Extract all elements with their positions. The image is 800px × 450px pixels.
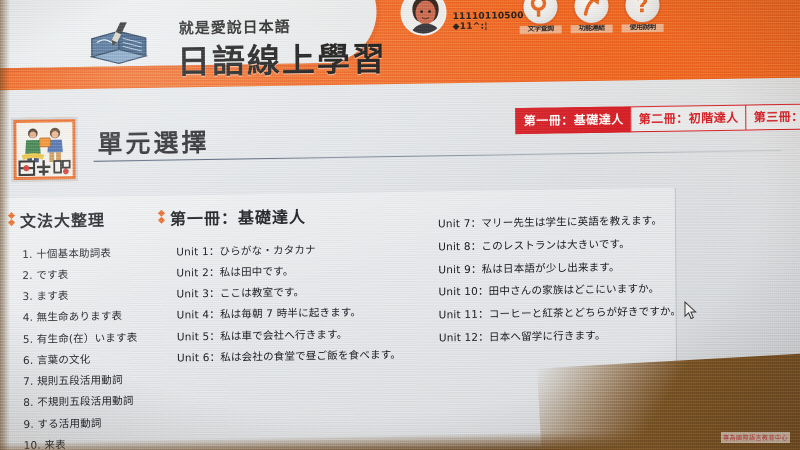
volume-tabs: 第一冊：基礎達人 第二冊：初階達人 第三冊：進 (516, 103, 800, 134)
list-item[interactable]: 7. 規則五段活用動詞 (9, 369, 159, 393)
list-item[interactable]: 5. 有生命(在）います表 (9, 327, 159, 351)
list-item[interactable]: 3. ます表 (8, 284, 158, 308)
search-button[interactable]: 文字查詢 (518, 0, 562, 38)
watermark: 專為國際語言教育中心 (721, 432, 790, 443)
user-info: 11110110500 ◆11^:¦ (453, 11, 524, 33)
monitor-screen: 就是愛說日本語 日語線上學習 11110110500 ◆11^:¦ (0, 0, 800, 450)
links-button[interactable]: 功能連結 (569, 0, 613, 37)
page-title: 單元選擇 (97, 123, 209, 161)
links-button-label: 功能連結 (571, 25, 613, 33)
units-column-left: 第一冊：基礎達人 Unit 1：ひらがな・カタカナ Unit 2：私は田中です。… (158, 202, 422, 450)
tab-volume-1[interactable]: 第一冊：基礎達人 (516, 106, 631, 134)
grammar-heading: 文法大整理 (8, 206, 158, 232)
list-item[interactable]: 8. 不規則五段活用動詞 (9, 391, 159, 415)
photograph-of-screen: 就是愛說日本語 日語線上學習 11110110500 ◆11^:¦ (0, 0, 800, 450)
magnifier-icon (521, 0, 559, 26)
web-page: 就是愛說日本語 日語線上學習 11110110500 ◆11^:¦ (0, 0, 800, 450)
header-nav-buttons: 文字查詢 功能連結 ? (518, 0, 664, 38)
site-title: 日語線上學習 (177, 32, 387, 83)
help-button-label: 使用說明 (622, 24, 664, 32)
help-button[interactable]: ? 使用說明 (620, 0, 664, 37)
user-id: 11110110500 (453, 11, 524, 22)
japanese-textbook-cover-icon[interactable] (11, 117, 77, 182)
book-one-heading: 第一冊：基礎達人 (158, 202, 420, 230)
list-item[interactable]: 10. 来表 (10, 433, 160, 450)
grammar-column: 文法大整理 1. 十個基本助詞表 2. です表 3. ます表 4. 無生命ありま… (8, 206, 160, 450)
list-item[interactable]: 9. する活用動詞 (9, 412, 159, 436)
open-book-with-pen-icon (89, 22, 155, 67)
tab-volume-2[interactable]: 第二冊：初階達人 (631, 105, 746, 133)
list-item[interactable]: Unit 12：日本へ留学に行きます。 (421, 323, 701, 350)
list-item[interactable]: 2. です表 (8, 263, 158, 287)
svg-text:?: ? (636, 0, 648, 17)
list-item[interactable]: 1. 十個基本助詞表 (8, 242, 158, 266)
page-body: 第一冊：基礎達人 第二冊：初階達人 第三冊：進 (0, 77, 800, 450)
units-column-right: Unit 7：マリー先生は学生に英語を教えます。 Unit 8：このレストランは… (420, 197, 702, 450)
unit-columns: 文法大整理 1. 十個基本助詞表 2. です表 3. ます表 4. 無生命ありま… (8, 197, 710, 450)
list-item[interactable]: Unit 6：私は会社の食堂で昼ご飯を食べます。 (159, 344, 421, 369)
list-item[interactable]: 6. 言葉の文化 (9, 348, 159, 372)
search-button-label: 文字查詢 (520, 26, 562, 34)
tab-volume-3[interactable]: 第三冊：進 (746, 103, 800, 130)
user-subinfo: ◆11^:¦ (453, 21, 524, 32)
up-arrow-icon (572, 0, 610, 25)
question-mark-icon: ? (623, 0, 661, 24)
list-item[interactable]: 4. 無生命あります表 (9, 306, 159, 330)
